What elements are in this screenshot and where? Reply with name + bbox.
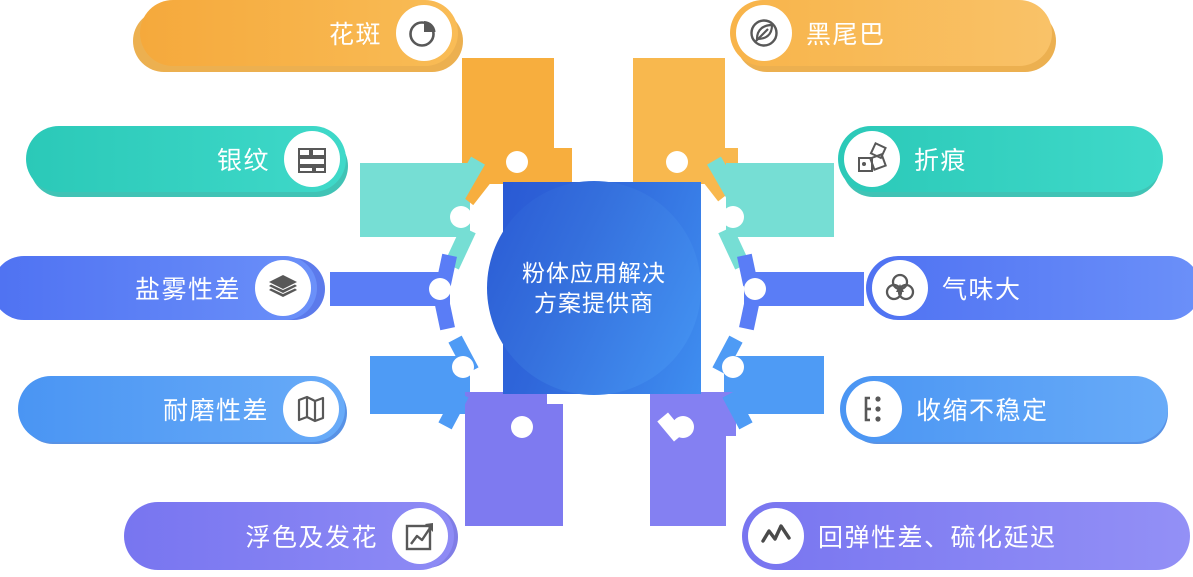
pill-label-item-7: 耐磨性差	[163, 391, 269, 427]
pill-item-6[interactable]: 气味大	[866, 256, 1193, 320]
connector-dot-item-7	[452, 356, 474, 378]
line-chart-icon	[748, 508, 804, 564]
pill-item-7[interactable]: 耐磨性差	[18, 376, 345, 442]
connector-arm-item-9	[465, 392, 547, 436]
pill-item-2[interactable]: 黑尾巴	[730, 0, 1052, 66]
pill-label-item-1: 花斑	[329, 15, 382, 51]
center-hub-circle: 粉体应用解决 方案提供商	[487, 181, 701, 395]
pie-chart-icon	[396, 5, 452, 61]
recycle-icon	[872, 260, 928, 316]
connector-dot-item-2	[666, 151, 688, 173]
pill-label-item-10: 回弹性差、硫化延迟	[818, 518, 1057, 554]
connector-dot-item-3	[450, 206, 472, 228]
connector-dot-item-1	[506, 151, 528, 173]
connector-dot-item-10	[672, 416, 694, 438]
infographic-canvas: 粉体应用解决 方案提供商 花斑 黑尾巴 银纹	[0, 0, 1193, 577]
pill-label-item-6: 气味大	[942, 270, 1022, 306]
pill-item-4[interactable]: 折痕	[838, 126, 1163, 192]
pill-item-9[interactable]: 浮色及发花	[124, 502, 454, 570]
leaf-icon	[736, 5, 792, 61]
connector-block-item-4	[726, 163, 834, 237]
trend-up-icon	[392, 508, 448, 564]
sitemap-icon	[846, 381, 902, 437]
pill-label-item-4: 折痕	[914, 141, 967, 177]
connector-dot-item-5	[429, 278, 451, 300]
connector-dot-item-9	[511, 416, 533, 438]
connector-dot-item-4b	[722, 206, 744, 228]
pill-item-8[interactable]: 收缩不稳定	[840, 376, 1168, 442]
connector-dash-item-6b	[739, 298, 760, 330]
pill-item-5[interactable]: 盐雾性差	[0, 256, 317, 320]
connector-dot-item-6	[744, 278, 766, 300]
pill-label-item-3: 银纹	[217, 141, 270, 177]
brick-wall-icon	[284, 131, 340, 187]
open-book-icon	[283, 381, 339, 437]
pill-label-item-5: 盐雾性差	[135, 270, 241, 306]
connector-block-item-3	[360, 163, 470, 237]
connector-dot-item-8	[722, 356, 744, 378]
connector-dash-item-5b	[434, 298, 455, 330]
pill-item-3[interactable]: 银纹	[26, 126, 346, 192]
pill-label-item-8: 收缩不稳定	[916, 391, 1049, 427]
pill-label-item-2: 黑尾巴	[806, 15, 886, 51]
pill-label-item-9: 浮色及发花	[245, 518, 378, 554]
layers-icon	[255, 260, 311, 316]
pill-item-1[interactable]: 花斑	[140, 0, 458, 66]
puzzle-icon	[844, 131, 900, 187]
pill-item-10[interactable]: 回弹性差、硫化延迟	[742, 502, 1190, 570]
center-hub-label: 粉体应用解决 方案提供商	[522, 258, 666, 318]
